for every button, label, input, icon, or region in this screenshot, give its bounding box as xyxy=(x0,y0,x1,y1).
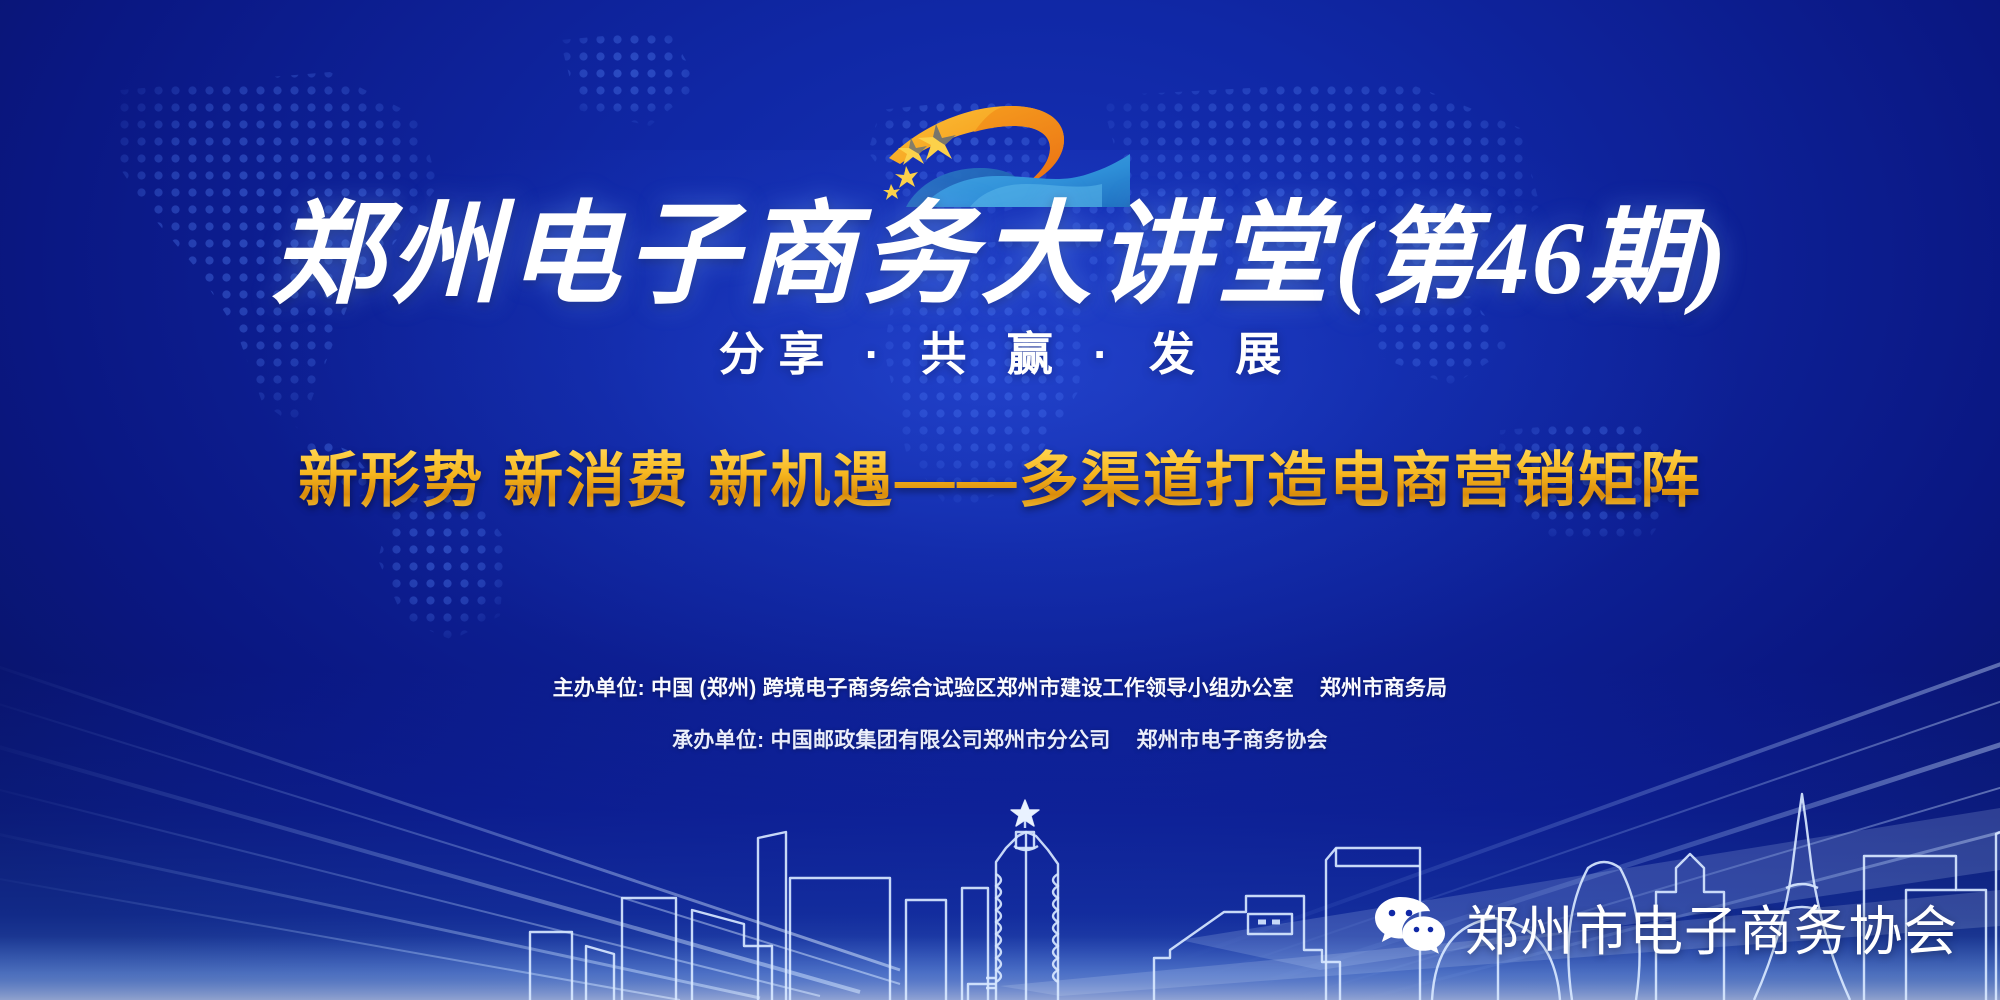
wechat-icon xyxy=(1373,895,1447,959)
host-label: 主办单位: xyxy=(553,677,645,700)
title-episode: (第46期) xyxy=(1335,201,1729,316)
title-main: 郑州电子商务大讲堂 xyxy=(271,194,1334,318)
wechat-account-name: 郑州市电子商务协会 xyxy=(1465,887,1958,966)
host-line: 主办单位: 中国 (郑州) 跨境电子商务综合试验区郑州市建设工作领导小组办公室郑… xyxy=(0,672,2000,702)
swoosh-stars-wave-logo xyxy=(850,72,1150,207)
event-logo xyxy=(850,72,1150,207)
poster-canvas: 郑州电子商务大讲堂(第46期) 分享 · 共 赢 · 发 展 新形势 新消费 新… xyxy=(0,0,2000,1000)
subtitle: 分享 · 共 赢 · 发 展 xyxy=(0,318,2000,384)
host-value: 中国 (郑州) 跨境电子商务综合试验区郑州市建设工作领导小组办公室 xyxy=(651,677,1294,700)
organizer-value: 中国邮政集团有限公司郑州市分公司 xyxy=(771,729,1111,752)
organizer-line: 承办单位: 中国邮政集团有限公司郑州市分公司郑州市电子商务协会 xyxy=(0,724,2000,754)
organizer-value-2: 郑州市电子商务协会 xyxy=(1137,729,1328,752)
organizer-block: 主办单位: 中国 (郑州) 跨境电子商务综合试验区郑州市建设工作领导小组办公室郑… xyxy=(0,672,2000,776)
organizer-label: 承办单位: xyxy=(672,729,764,752)
host-value-2: 郑州市商务局 xyxy=(1320,677,1448,700)
page-title: 郑州电子商务大讲堂(第46期) xyxy=(0,196,2000,317)
wechat-badge[interactable]: 郑州市电子商务协会 xyxy=(1373,887,1958,966)
headline: 新形势 新消费 新机遇——多渠道打造电商营销矩阵 xyxy=(0,432,2000,519)
